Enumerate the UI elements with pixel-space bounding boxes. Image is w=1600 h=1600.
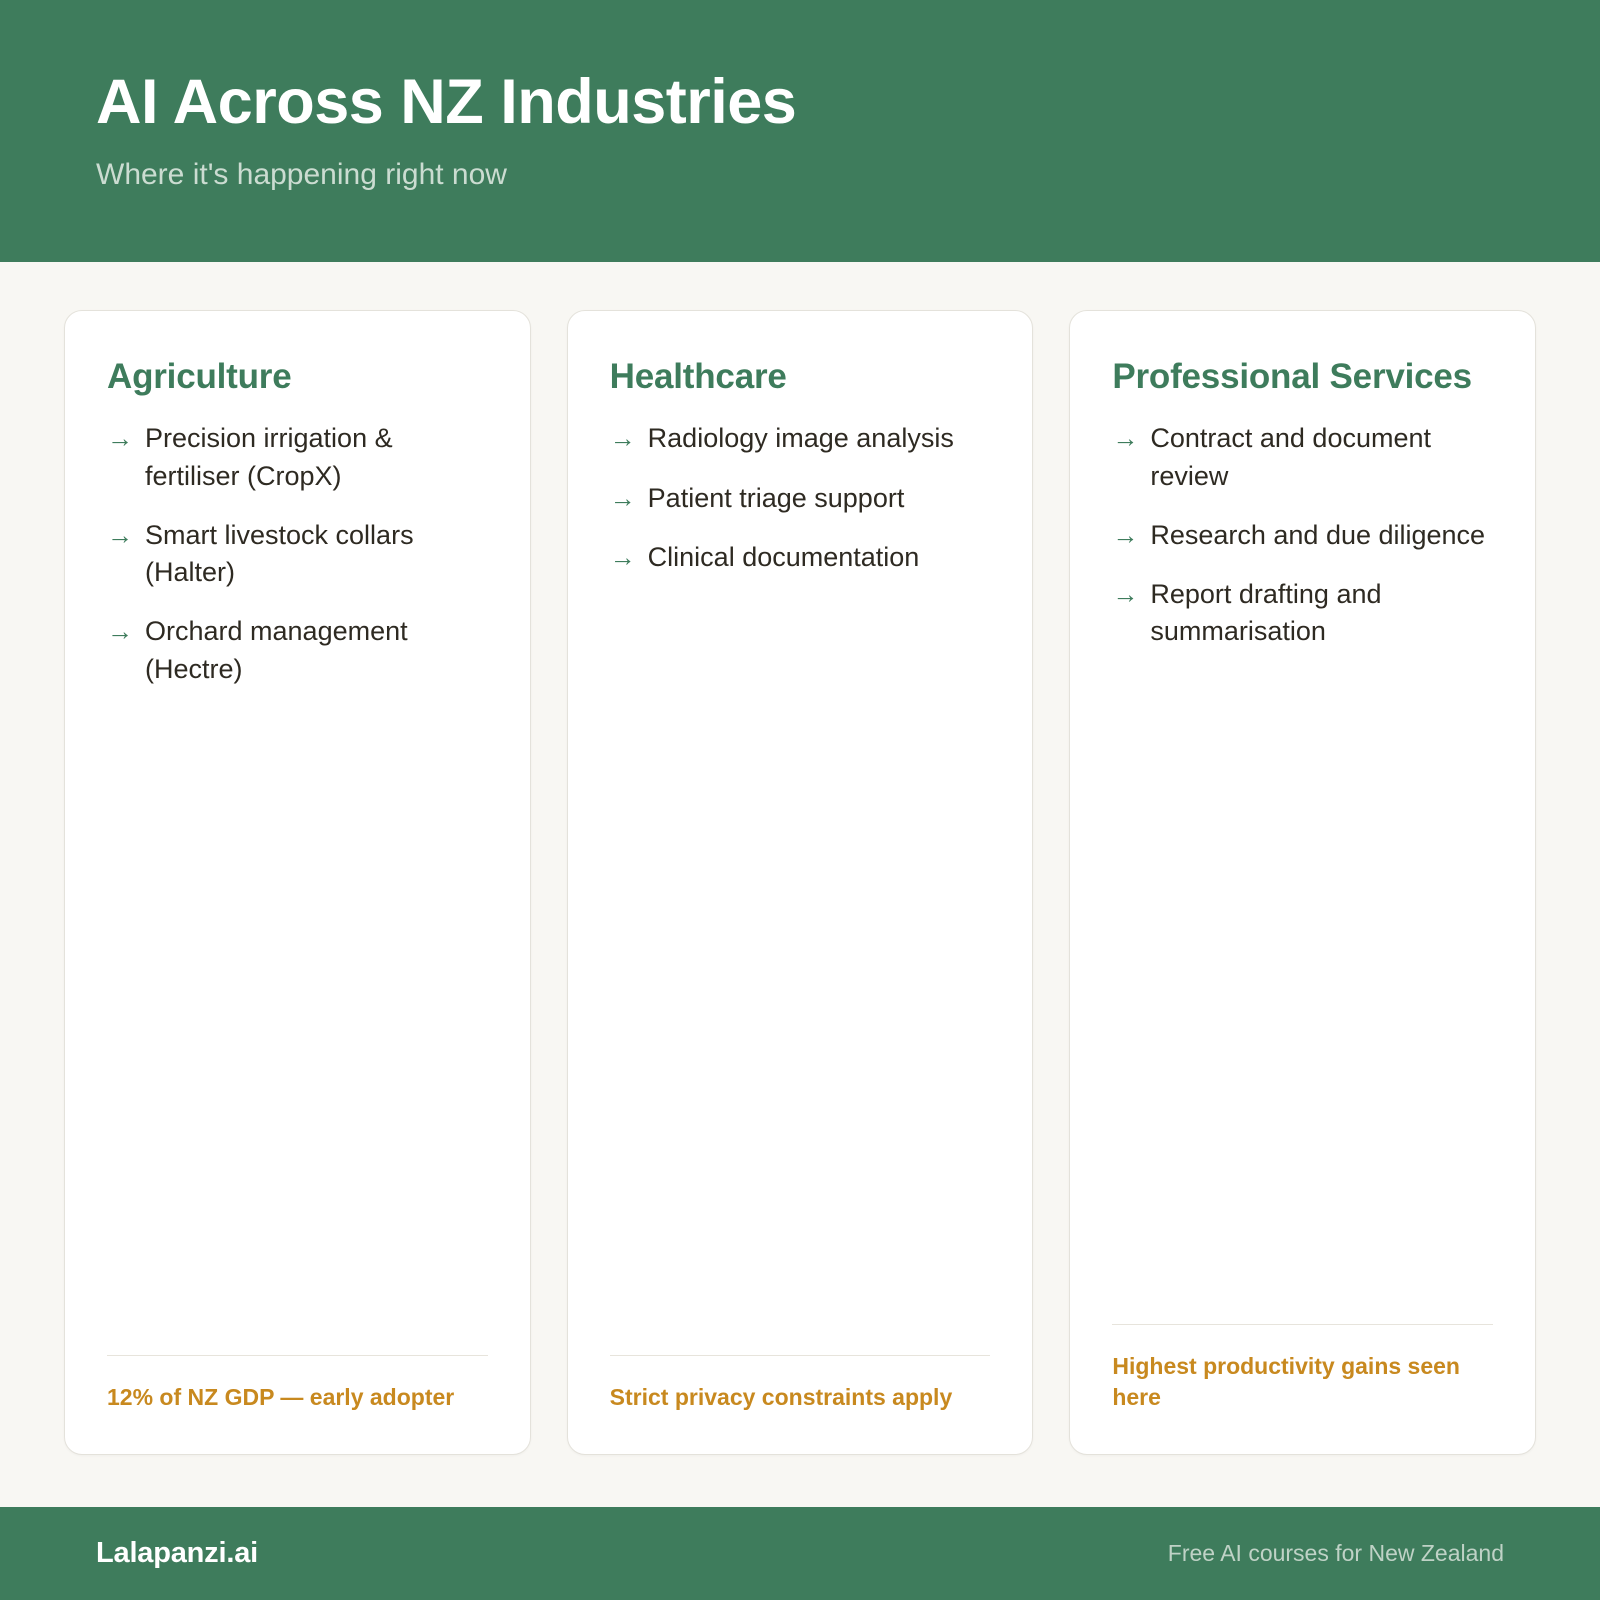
list-item-label: Orchard management (Hectre): [145, 613, 488, 688]
page-header: AI Across NZ Industries Where it's happe…: [0, 0, 1600, 262]
page-footer: Lalapanzi.ai Free AI courses for New Zea…: [0, 1507, 1600, 1600]
card-title: Healthcare: [610, 355, 991, 398]
arrow-right-icon: →: [610, 539, 636, 576]
arrow-right-icon: →: [610, 480, 636, 517]
industry-card-agriculture: Agriculture → Precision irrigation & fer…: [64, 310, 531, 1455]
footer-tagline: Free AI courses for New Zealand: [1168, 1540, 1504, 1567]
arrow-right-icon: →: [1112, 576, 1138, 613]
cards-container: Agriculture → Precision irrigation & fer…: [0, 262, 1600, 1507]
card-item-list: → Radiology image analysis → Patient tri…: [610, 420, 991, 576]
list-item-label: Contract and document review: [1150, 420, 1493, 495]
card-title: Agriculture: [107, 355, 488, 398]
card-divider: [107, 1355, 488, 1356]
list-item: → Precision irrigation & fertiliser (Cro…: [107, 420, 488, 495]
list-item: → Smart livestock collars (Halter): [107, 517, 488, 592]
list-item: → Report drafting and summarisation: [1112, 576, 1493, 651]
list-item-label: Precision irrigation & fertiliser (CropX…: [145, 420, 488, 495]
card-spacer: [610, 576, 991, 1355]
list-item-label: Patient triage support: [648, 480, 991, 517]
industry-card-professional-services: Professional Services → Contract and doc…: [1069, 310, 1536, 1455]
card-spacer: [1112, 651, 1493, 1324]
list-item-label: Report drafting and summarisation: [1150, 576, 1493, 651]
page-title: AI Across NZ Industries: [96, 69, 1600, 135]
arrow-right-icon: →: [1112, 420, 1138, 457]
card-note: 12% of NZ GDP — early adopter: [107, 1382, 488, 1414]
brand-logo: Lalapanzi.ai: [96, 1537, 258, 1570]
list-item: → Radiology image analysis: [610, 420, 991, 457]
list-item: → Clinical documentation: [610, 539, 991, 576]
arrow-right-icon: →: [1112, 517, 1138, 554]
page-subtitle: Where it's happening right now: [96, 157, 1600, 193]
card-item-list: → Contract and document review → Researc…: [1112, 420, 1493, 650]
arrow-right-icon: →: [107, 517, 133, 554]
card-divider: [1112, 1324, 1493, 1325]
arrow-right-icon: →: [107, 613, 133, 650]
card-note: Strict privacy constraints apply: [610, 1382, 991, 1414]
list-item-label: Smart livestock collars (Halter): [145, 517, 488, 592]
list-item: → Patient triage support: [610, 480, 991, 517]
card-spacer: [107, 688, 488, 1355]
arrow-right-icon: →: [107, 420, 133, 457]
list-item: → Research and due diligence: [1112, 517, 1493, 554]
list-item-label: Radiology image analysis: [648, 420, 991, 457]
list-item-label: Research and due diligence: [1150, 517, 1493, 554]
card-title: Professional Services: [1112, 355, 1493, 398]
card-item-list: → Precision irrigation & fertiliser (Cro…: [107, 420, 488, 688]
industry-card-healthcare: Healthcare → Radiology image analysis → …: [567, 310, 1034, 1455]
arrow-right-icon: →: [610, 420, 636, 457]
infographic-page: AI Across NZ Industries Where it's happe…: [0, 0, 1600, 1600]
card-note: Highest productivity gains seen here: [1112, 1351, 1493, 1414]
list-item: → Contract and document review: [1112, 420, 1493, 495]
list-item: → Orchard management (Hectre): [107, 613, 488, 688]
list-item-label: Clinical documentation: [648, 539, 991, 576]
card-divider: [610, 1355, 991, 1356]
